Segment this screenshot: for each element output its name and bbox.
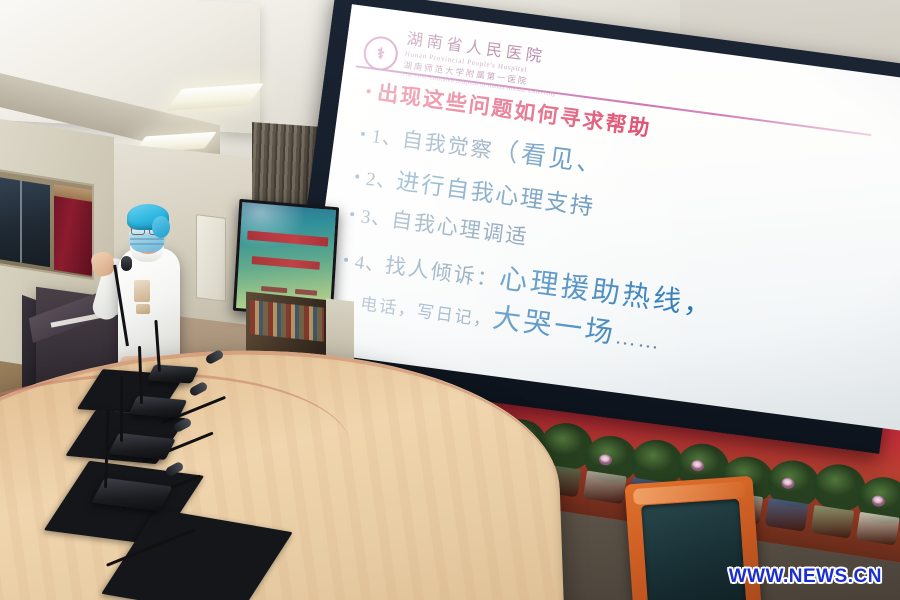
mask-fold [130, 238, 164, 240]
monitor-tag-right [295, 289, 317, 296]
left-window [0, 168, 94, 280]
window-glass [0, 176, 50, 267]
cap-back [152, 216, 170, 238]
podium-microphone-icon [121, 256, 132, 271]
mural-flower-pot [583, 471, 627, 505]
monitor-line-2 [252, 256, 320, 270]
slide-body: 出现这些问题如何寻求帮助 1、 自我觉察 （看见、 2、 进行自我心理支持 3、 [337, 75, 900, 391]
mural-flower-pot [856, 512, 900, 546]
bullet-2-number: 2、 [364, 164, 398, 195]
ceiling-bulkhead [0, 0, 260, 134]
mural-flower-pot [810, 505, 854, 539]
bullet-4-number: 4、 [353, 247, 387, 278]
bullet-1-number: 1、 [370, 121, 404, 152]
bullet-dot-icon [366, 89, 370, 93]
mural-flower-pot [765, 498, 809, 532]
last-line-ellipsis: …… [614, 324, 663, 355]
monitor-glare [233, 199, 307, 257]
window-mullion [20, 181, 22, 263]
bullet-1-emphasis: （看见、 [491, 130, 607, 180]
last-line-small: 电话，写日记， [359, 289, 494, 331]
lecture-hall-photo: ⚕ 湖南省人民医院 Hunan Provincial People's Hosp… [0, 0, 900, 600]
news-watermark: WWW.NEWS.CN [729, 566, 882, 588]
conference-mic-1[interactable] [147, 364, 199, 383]
coat-pocket-badge [136, 304, 150, 314]
mask-fold [130, 243, 164, 245]
books [250, 300, 324, 342]
air-conditioner [196, 214, 226, 302]
bullet-dot-icon [344, 257, 348, 261]
bullet-dot-icon [355, 174, 359, 178]
bullet-1-text: 自我觉察 [400, 123, 495, 165]
mic-gooseneck [120, 376, 123, 442]
monitor-tag-left [261, 286, 287, 293]
bullet-dot-icon [350, 212, 354, 216]
bullet-dot-icon [361, 132, 365, 136]
bullet-3-number: 3、 [359, 201, 393, 232]
id-badge [134, 280, 150, 302]
